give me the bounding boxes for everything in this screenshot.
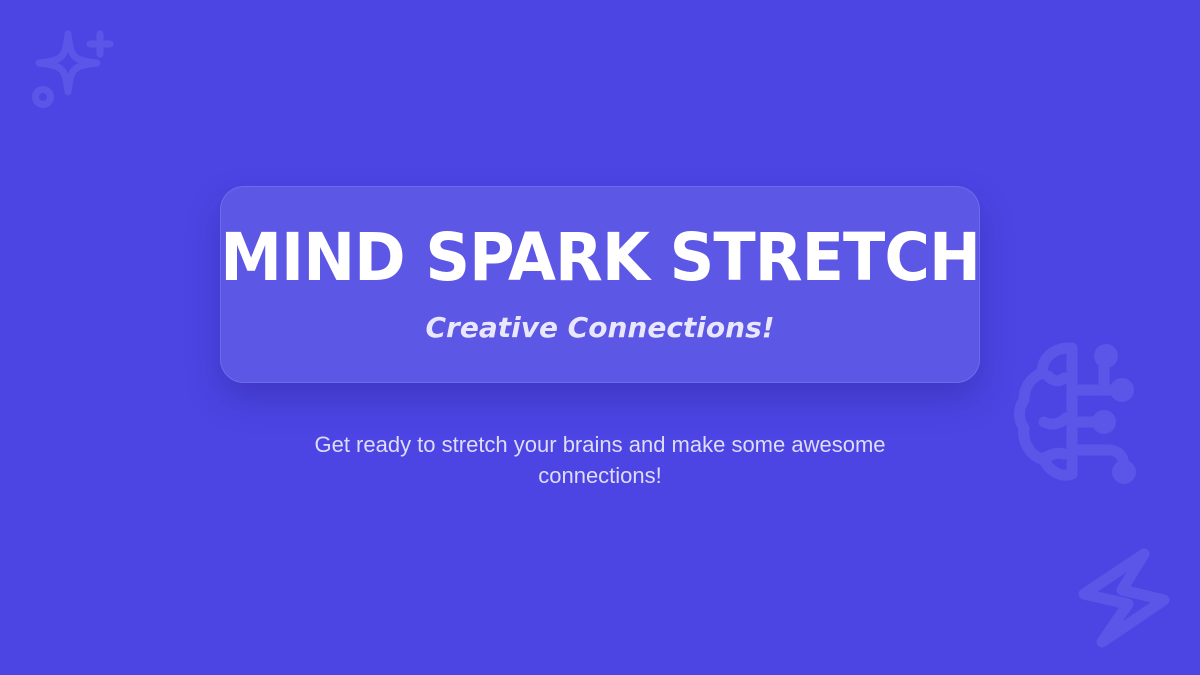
page-description: Get ready to stretch your brains and mak… [310,429,890,491]
page-tagline: Creative Connections! [425,313,774,344]
title-card: MIND SPARK STRETCH Creative Connections! [220,186,980,383]
slide-content: MIND SPARK STRETCH Creative Connections!… [0,0,1200,675]
page-title: MIND SPARK STRETCH [220,225,980,291]
